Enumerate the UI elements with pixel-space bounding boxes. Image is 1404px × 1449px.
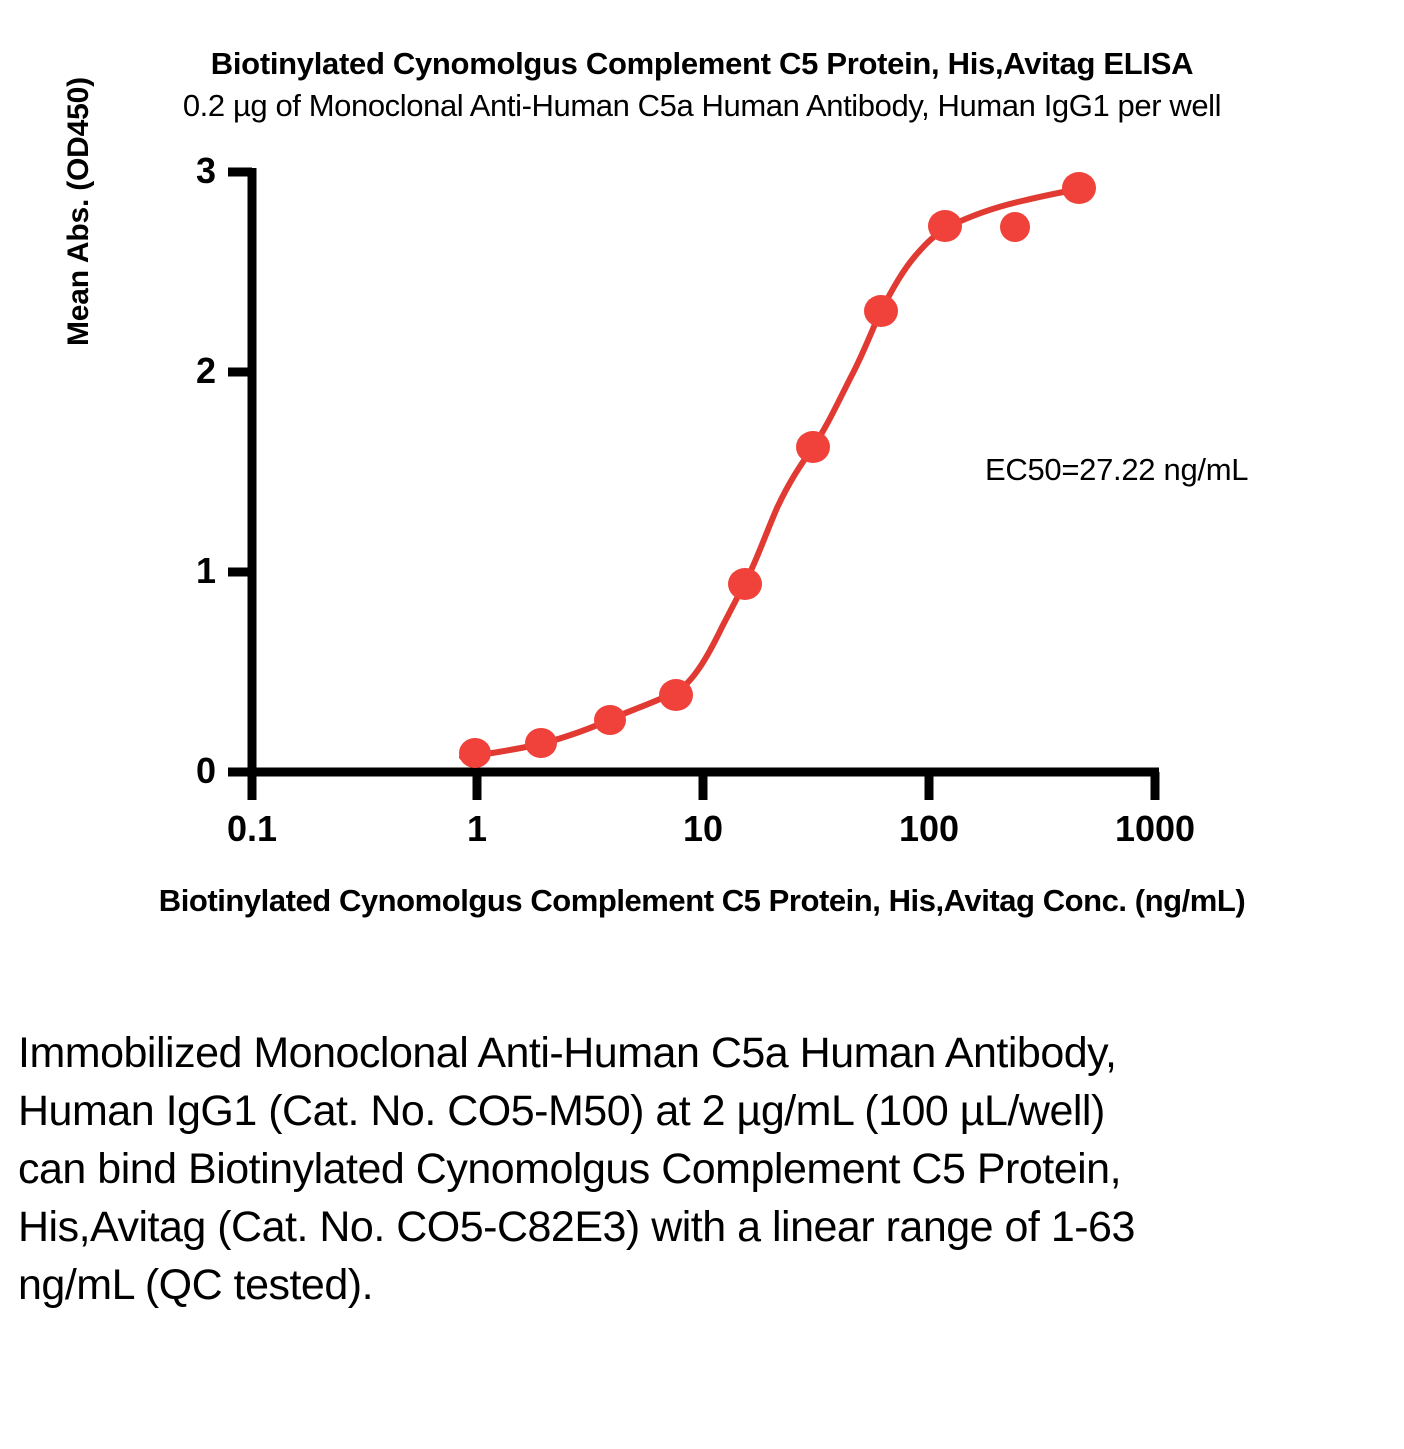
x-tick-label-100: 100 bbox=[854, 808, 1004, 850]
data-point bbox=[659, 679, 693, 711]
y-tick-label-2: 2 bbox=[168, 350, 216, 392]
data-point bbox=[525, 728, 557, 758]
ec50-annotation: EC50=27.22 ng/mL bbox=[985, 452, 1248, 488]
data-point bbox=[594, 705, 626, 735]
data-point bbox=[728, 568, 762, 600]
data-point bbox=[1000, 212, 1030, 242]
y-axis-label: Mean Abs. (OD450) bbox=[62, 0, 96, 346]
data-point bbox=[928, 210, 962, 242]
x-tick-label-10: 10 bbox=[628, 808, 778, 850]
y-tick-label-0: 0 bbox=[168, 750, 216, 792]
x-tick-label-0p1: 0.1 bbox=[177, 808, 327, 850]
data-point bbox=[1062, 172, 1096, 204]
data-point bbox=[864, 295, 898, 327]
data-point bbox=[459, 738, 491, 768]
data-point bbox=[796, 431, 830, 463]
x-axis-label: Biotinylated Cynomolgus Complement C5 Pr… bbox=[0, 883, 1404, 919]
x-tick-label-1000: 1000 bbox=[1080, 808, 1230, 850]
figure-caption: Immobilized Monoclonal Anti-Human C5a Hu… bbox=[18, 1024, 1138, 1314]
y-tick-label-1: 1 bbox=[168, 550, 216, 592]
x-tick-label-1: 1 bbox=[402, 808, 552, 850]
y-tick-label-3: 3 bbox=[168, 150, 216, 192]
elisa-chart: Mean Abs. (OD450) 3 2 1 0 0.1 1 10 100 1… bbox=[0, 0, 1404, 960]
